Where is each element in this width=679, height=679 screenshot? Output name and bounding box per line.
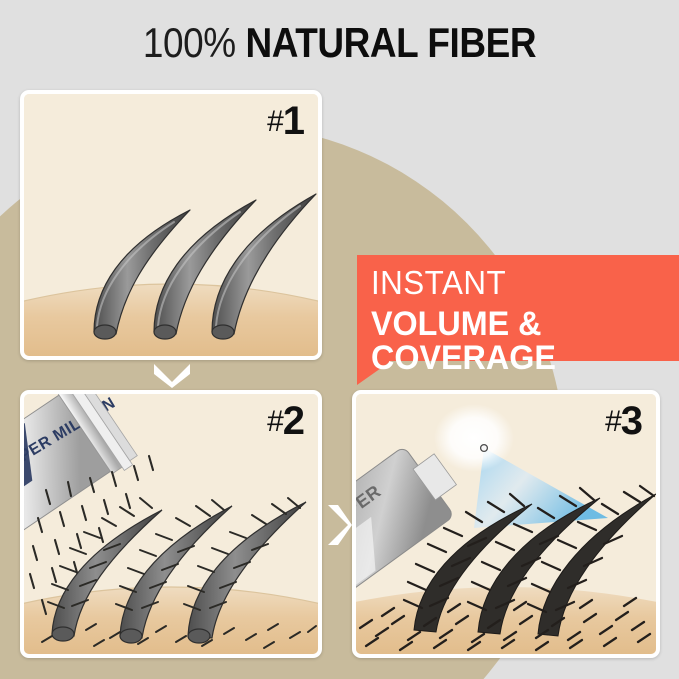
panel-1-digit: 1 — [283, 99, 304, 143]
banner-line-volume-coverage: VOLUME & COVERAGE — [371, 307, 664, 375]
panel-3-hash: # — [605, 405, 621, 438]
nozzle-glow — [434, 404, 514, 472]
step-panel-1: #1 — [20, 90, 322, 360]
panel-2-digit: 2 — [283, 399, 304, 443]
headline-main: NATURAL FIBER — [245, 19, 536, 66]
panel-3-digit: 3 — [621, 399, 642, 443]
panel-2-number: #2 — [267, 401, 304, 441]
headline-percent: 100% — [143, 19, 236, 66]
arrow-down-icon — [152, 362, 192, 388]
page-title: 100% NATURAL FIBER — [41, 22, 639, 64]
arrow-right-icon — [326, 503, 352, 547]
panel-1-hash: # — [267, 105, 283, 138]
banner-line-instant: INSTANT — [371, 266, 664, 299]
panel-3-number: #3 — [605, 401, 642, 441]
panel-1-number: #1 — [267, 101, 304, 141]
panel-2-hash: # — [267, 405, 283, 438]
step-panel-3: SUPER HY — [352, 390, 660, 658]
infographic-canvas: 100% NATURAL FIBER — [0, 0, 679, 679]
banner-text-group: INSTANT VOLUME & COVERAGE — [371, 266, 679, 375]
promo-banner: INSTANT VOLUME & COVERAGE — [357, 255, 679, 361]
step-panel-2: SM SUPER MILLION — [20, 390, 322, 658]
nozzle-tip-icon — [481, 445, 488, 452]
